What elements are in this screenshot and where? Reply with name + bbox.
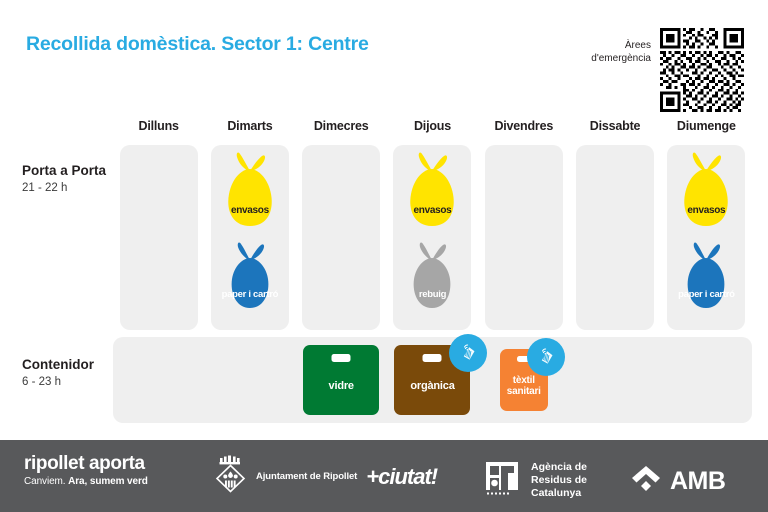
bag-paper-i-cartro[interactable]: paper i cartró (674, 238, 738, 318)
bag-envasos[interactable]: envasos (396, 150, 468, 238)
qr-code-icon[interactable] (660, 28, 744, 112)
bag-label-envasos: envasos (396, 206, 468, 217)
ppp-cell-dilluns[interactable] (120, 145, 198, 330)
ppp-cell-divendres[interactable] (485, 145, 563, 330)
day-header-dijous: Dijous (387, 119, 478, 143)
container-lid-slot (332, 354, 351, 362)
container-vidre[interactable]: vidre (303, 345, 379, 415)
nfc-card-icon (527, 338, 565, 376)
logo-amb: AMB (630, 464, 725, 499)
ct-cell-divendres[interactable]: tèxtil sanitari (478, 337, 569, 423)
day-header-dimarts: Dimarts (204, 119, 295, 143)
brand-tagline: Canviem. Ara, sumem verd (24, 476, 148, 487)
emergency-areas-qr-block[interactable]: Àrees d'emergència (591, 28, 744, 112)
container-label-vidre: vidre (326, 380, 357, 392)
container-organica[interactable]: orgànica (394, 345, 470, 415)
day-header-dimecres: Dimecres (296, 119, 387, 143)
brand-tagline-light: Canviem. (24, 476, 68, 487)
page-title: Recollida domèstica. Sector 1: Centre (26, 33, 369, 56)
day-headers: Dilluns Dimarts Dimecres Dijous Divendre… (113, 119, 752, 143)
row-hours-contenidor: 6 - 23 h (22, 376, 114, 388)
bag-paper-i-cartro[interactable]: paper i cartró (218, 238, 282, 318)
ct-cell-dimecres[interactable]: vidre (296, 337, 387, 423)
porta-a-porta-band: envasos paper i cartró envasos (113, 145, 752, 330)
bag-label-rebuig: rebuig (400, 290, 464, 300)
ct-cell-dilluns[interactable] (113, 337, 204, 423)
arc-label: Agència de Residus de Catalunya (531, 461, 587, 500)
bag-envasos[interactable]: envasos (214, 150, 286, 238)
container-textil-sanitari[interactable]: tèxtil sanitari (500, 349, 548, 411)
ppp-cell-dimarts[interactable]: envasos paper i cartró (211, 145, 289, 330)
qr-label: Àrees d'emergència (591, 28, 651, 65)
contenidor-band: vidre orgànica (113, 337, 752, 423)
row-label-porta-a-porta: Porta a Porta 21 - 22 h (22, 163, 114, 194)
bag-label-envasos: envasos (670, 206, 742, 217)
ppp-cell-diumenge[interactable]: envasos paper i cartró (667, 145, 745, 330)
container-label-organica: orgànica (407, 380, 457, 392)
container-label-textil-sanitari: tèxtil sanitari (500, 375, 548, 397)
container-lid-slot (423, 354, 442, 362)
amb-chevron-icon (630, 464, 662, 499)
ct-cell-diumenge[interactable] (661, 337, 752, 423)
brand-ripollet-aporta: ripollet aporta Canviem. Ara, sumem verd (24, 454, 148, 487)
ct-cell-dissabte[interactable] (569, 337, 660, 423)
row-title-contenidor: Contenidor (22, 357, 114, 373)
ajuntament-label: Ajuntament de Ripollet (256, 471, 357, 482)
bag-envasos[interactable]: envasos (670, 150, 742, 238)
ct-cell-dimarts[interactable] (204, 337, 295, 423)
day-header-dissabte: Dissabte (569, 119, 660, 143)
header: Recollida domèstica. Sector 1: Centre Àr… (0, 0, 768, 118)
logo-ajuntament-de-ripollet: Ajuntament de Ripollet +ciutat! (213, 454, 437, 499)
bag-label-paper-i-cartro: paper i cartró (218, 290, 282, 300)
logo-mes-ciutat: +ciutat! (366, 464, 437, 490)
row-hours-porta-a-porta: 21 - 22 h (22, 182, 114, 194)
bag-rebuig[interactable]: rebuig (400, 238, 464, 318)
footer: ripollet aporta Canviem. Ara, sumem verd (0, 440, 768, 512)
bag-label-paper-i-cartro: paper i cartró (674, 290, 738, 300)
ppp-cell-dimecres[interactable] (302, 145, 380, 330)
row-label-contenidor: Contenidor 6 - 23 h (22, 357, 114, 388)
arc-logo-icon (482, 458, 522, 503)
row-title-porta-a-porta: Porta a Porta (22, 163, 114, 179)
day-header-diumenge: Diumenge (661, 119, 752, 143)
brand-name: ripollet aporta (24, 454, 148, 474)
logo-agencia-residus-catalunya: Agència de Residus de Catalunya (482, 458, 587, 503)
bag-label-envasos: envasos (214, 206, 286, 217)
day-header-divendres: Divendres (478, 119, 569, 143)
ppp-cell-dijous[interactable]: envasos rebuig (393, 145, 471, 330)
ct-cell-dijous[interactable]: orgànica (387, 337, 478, 423)
amb-label: AMB (670, 467, 725, 496)
ppp-cell-dissabte[interactable] (576, 145, 654, 330)
ripollet-crest-icon (213, 454, 249, 499)
day-header-dilluns: Dilluns (113, 119, 204, 143)
brand-tagline-bold: Ara, sumem verd (68, 476, 148, 487)
